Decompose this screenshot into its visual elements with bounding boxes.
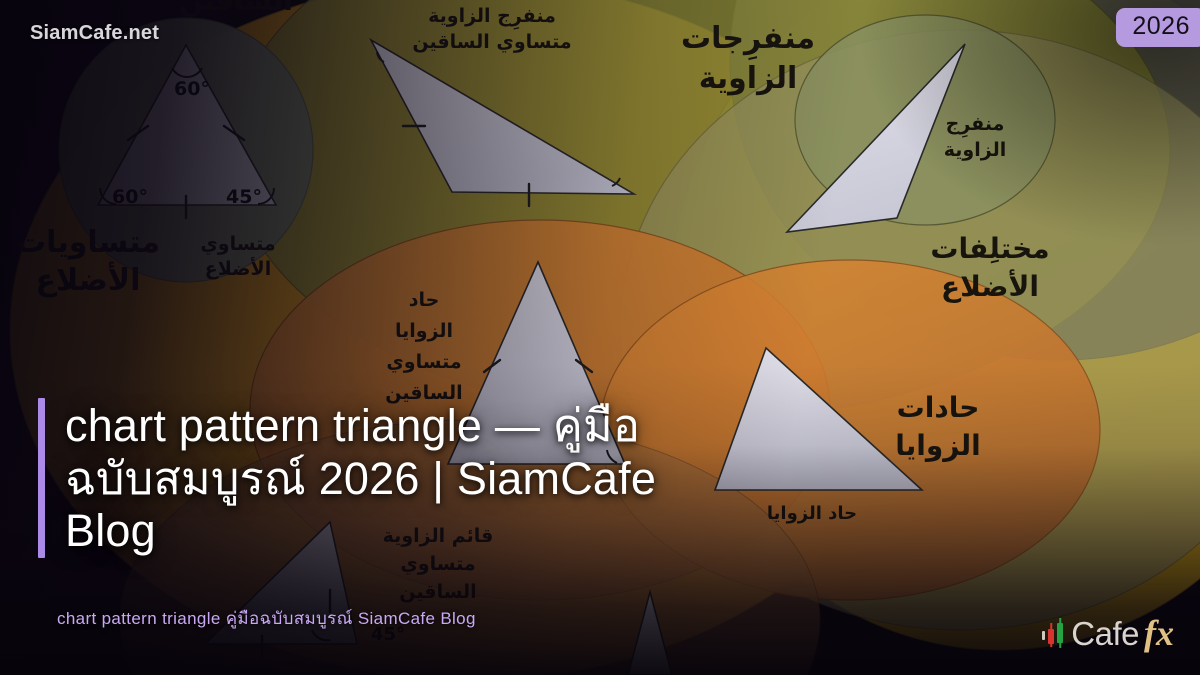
label-obtuse-scalene-line1: منفرِج	[946, 113, 1005, 138]
blog-thumbnail-card: متساويات الأضلاع منفرِجات الزاوية مختلِف…	[0, 0, 1200, 675]
candlestick-bar-red	[1048, 616, 1054, 650]
label-acute-angled-line1: حادات	[897, 391, 980, 424]
title-block: chart pattern triangle — คู่มือฉบับสมบูร…	[38, 398, 718, 558]
label-acute-isosceles-line3: متساوي	[386, 351, 461, 374]
brand-logo[interactable]: Cafe fx	[1042, 613, 1174, 653]
label-scalene-line1: مختلِفات	[930, 232, 1049, 265]
candlestick-bar-small	[1042, 616, 1045, 650]
year-badge: 2026	[1116, 8, 1200, 47]
label-equilateral-line2: الأضلاع	[205, 257, 271, 280]
label-acute-scalene: حاد الزوايا	[767, 503, 857, 524]
label-acute-isosceles-line1: حاد	[409, 289, 440, 311]
angle-label-equilateral-right: 45°	[226, 186, 262, 208]
label-right-isosceles-line3: الساقين	[399, 581, 476, 603]
candlestick-bar-green	[1057, 616, 1063, 650]
label-obtuse-angled-line2: الزاوية	[699, 61, 798, 96]
label-obtuse-scalene-line2: الزاوية	[944, 139, 1006, 161]
accent-bar	[38, 398, 45, 558]
label-equilaterals-line2: الأضلاع	[36, 261, 141, 298]
label-acute-isosceles-line2: الزوايا	[395, 320, 453, 342]
title-text-wrapper: chart pattern triangle — คู่มือฉบับสมบูร…	[65, 398, 718, 558]
site-watermark: SiamCafe.net	[30, 22, 159, 45]
label-obtuse-angled-line1: منفرِجات	[681, 21, 815, 61]
triangle-classification-venn-diagram: متساويات الأضلاع منفرِجات الزاوية مختلِف…	[0, 0, 1200, 675]
candlestick-icon	[1042, 616, 1063, 650]
label-isosceles-clipped: الساقين	[179, 0, 293, 17]
label-obtuse-isosceles-line2: متساوي الساقين	[412, 31, 571, 54]
angle-label-equilateral-apex: 60°	[174, 78, 210, 100]
brand-name: Cafe	[1071, 617, 1139, 650]
label-equilateral-line1: متساوي	[200, 233, 275, 256]
label-acute-angled-line2: الزوايا	[895, 429, 981, 462]
angle-label-equilateral-left: 60°	[112, 186, 148, 208]
page-title: chart pattern triangle — คู่มือฉบับสมบูร…	[65, 400, 718, 558]
brand-suffix: fx	[1144, 612, 1174, 654]
label-obtuse-isosceles-line1: منفرِج الزاوية	[428, 5, 556, 30]
label-scalene-line2: الأضلاع	[941, 269, 1039, 303]
page-subtitle: chart pattern triangle คู่มือฉบับสมบูรณ์…	[57, 605, 476, 632]
label-equilaterals-line1: متساويات	[16, 225, 160, 260]
